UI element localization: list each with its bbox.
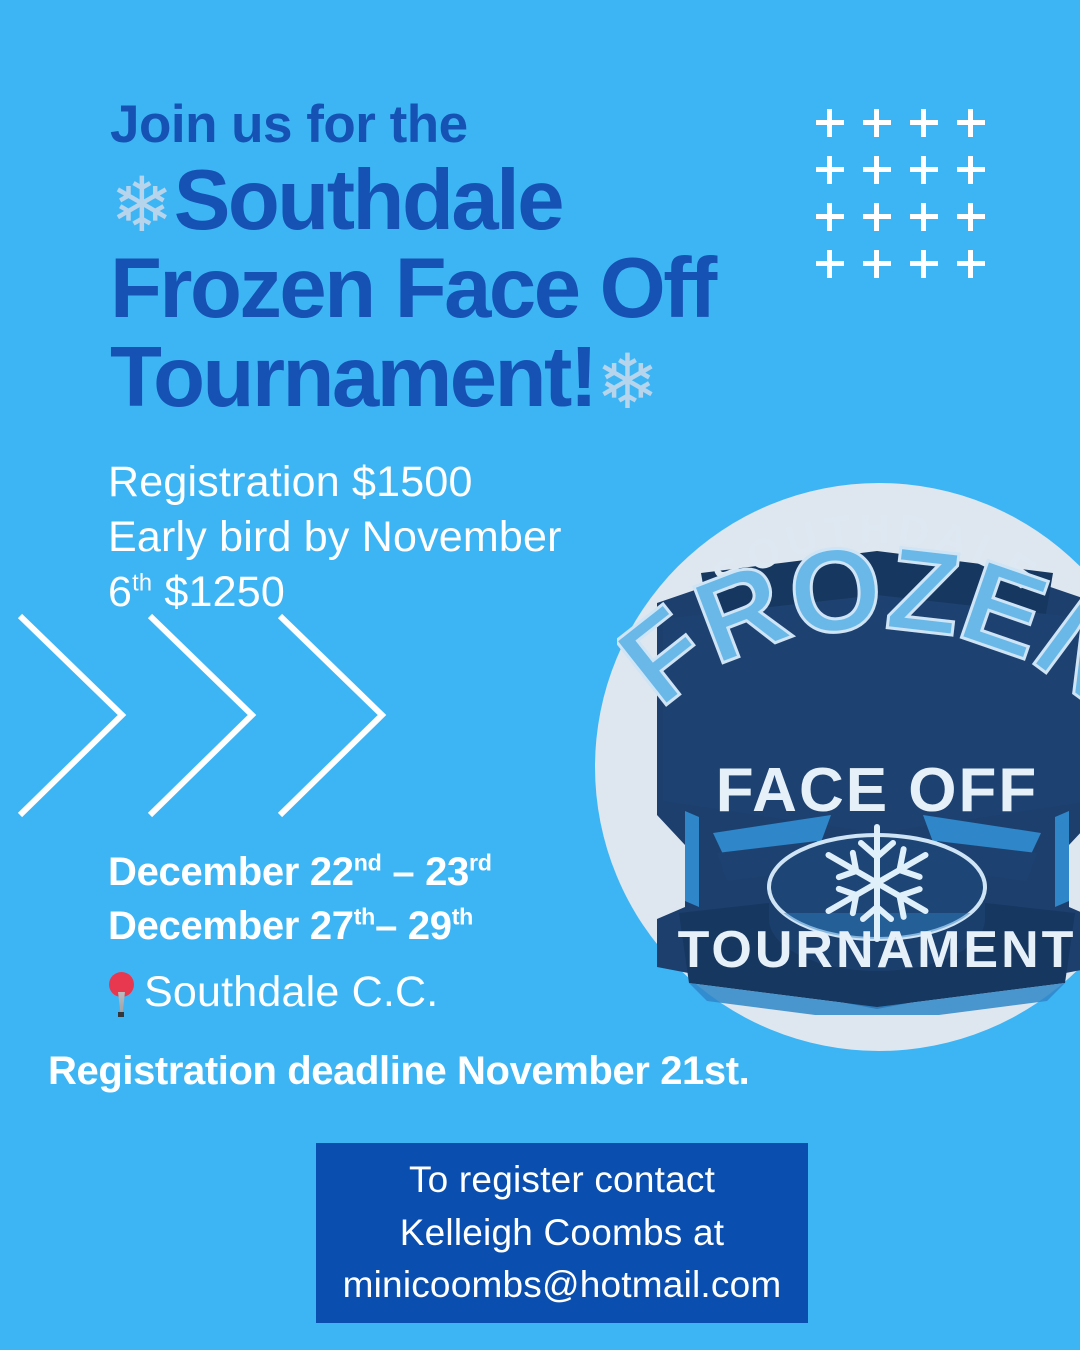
- registration-info: Registration $1500 Early bird by Novembe…: [108, 455, 628, 620]
- title-line-3: Tournament!: [110, 330, 596, 425]
- snowflake-icon: ❄: [596, 340, 660, 425]
- frozen-face-off-badge-icon: SOUTHDALE FROZEN FACE OFF: [617, 515, 1080, 1015]
- registration-deadline: Registration deadline November 21st.: [48, 1049, 749, 1094]
- venue-row: Southdale C.C.: [104, 968, 438, 1017]
- contact-email[interactable]: minicoombs@hotmail.com: [343, 1259, 782, 1312]
- logo-bottom-text: TOURNAMENT: [678, 921, 1077, 979]
- location-pin-icon: [104, 970, 138, 1016]
- date-row: December 22nd – 23rd: [108, 845, 628, 899]
- title-line-1: Southdale: [174, 153, 562, 248]
- plus-icon: [906, 151, 953, 198]
- plus-icon: [953, 245, 1000, 292]
- venue-name: Southdale C.C.: [144, 968, 438, 1017]
- poster-canvas: Join us for the ❄Southdale Frozen Face O…: [0, 0, 1080, 1350]
- plus-icon: [906, 245, 953, 292]
- logo-sub-text: FACE OFF: [716, 756, 1039, 825]
- title-line-2: Frozen Face Off: [110, 241, 715, 336]
- plus-icon: [906, 198, 953, 245]
- headline-block: Join us for the ❄Southdale Frozen Face O…: [110, 98, 900, 422]
- snowflake-icon: ❄: [110, 163, 174, 248]
- registration-price: Registration $1500: [108, 455, 628, 510]
- tournament-dates: December 22nd – 23rd December 27th– 29th: [108, 845, 628, 953]
- plus-icon: [906, 104, 953, 151]
- plus-icon: [953, 104, 1000, 151]
- contact-box[interactable]: To register contact Kelleigh Coombs at m…: [316, 1143, 808, 1323]
- contact-line-1: To register contact: [409, 1154, 715, 1207]
- chevron-arrows-icon: [0, 612, 400, 822]
- page-title: ❄Southdale Frozen Face Off Tournament!❄: [110, 157, 900, 422]
- headline-kicker: Join us for the: [110, 98, 900, 151]
- date-row: December 27th– 29th: [108, 899, 628, 953]
- plus-icon: [953, 151, 1000, 198]
- chevron-decoration: [0, 612, 400, 822]
- contact-line-2: Kelleigh Coombs at: [400, 1207, 724, 1260]
- early-bird-line: Early bird by November: [108, 510, 628, 565]
- tournament-logo: SOUTHDALE FROZEN FACE OFF: [595, 483, 1080, 1051]
- plus-icon: [953, 198, 1000, 245]
